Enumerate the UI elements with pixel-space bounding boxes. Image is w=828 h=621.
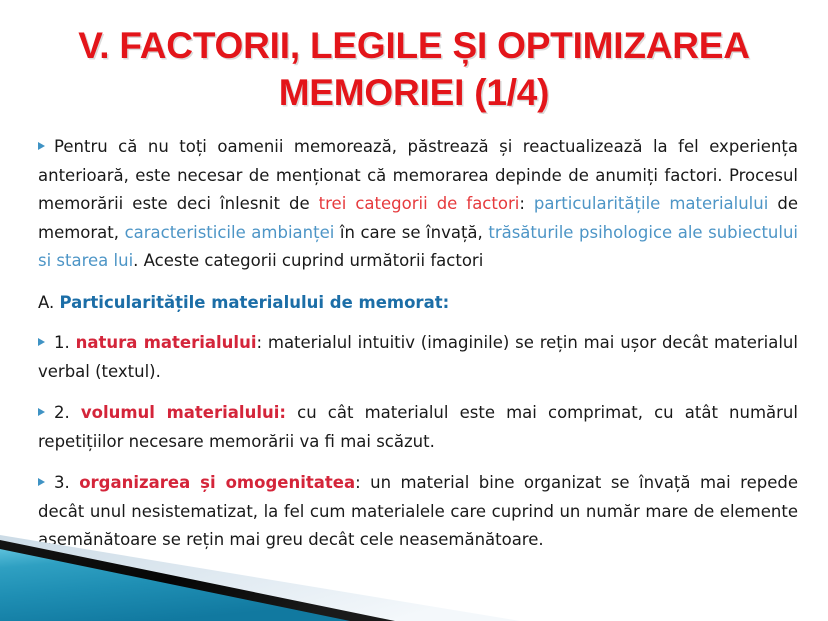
- slide: V. FACTORII, LEGILE ȘI OPTIMIZAREA MEMOR…: [0, 0, 828, 621]
- triangle-bullet-icon: [38, 408, 45, 416]
- page-title-line-2: MEMORIEI (1/4): [30, 69, 798, 116]
- section-a-heading: A. Particularitățile materialului de mem…: [38, 289, 798, 318]
- intro-text-part-5: . Aceste categorii cuprind următorii fac…: [133, 251, 483, 270]
- item-number: 1.: [54, 333, 76, 352]
- section-a-letter: A.: [38, 293, 60, 312]
- item-colon: [286, 403, 297, 422]
- item-label: volumul materialului:: [81, 403, 286, 422]
- content-body: Pentru că nu toți oamenii memorează, păs…: [38, 133, 798, 568]
- triangle-bullet-icon: [38, 338, 45, 346]
- triangle-bullet-icon: [38, 478, 45, 486]
- page-title-line-1: V. FACTORII, LEGILE ȘI OPTIMIZAREA: [30, 22, 798, 69]
- list-item: 1. natura materialului: materialul intui…: [38, 329, 798, 386]
- item-colon: :: [256, 333, 267, 352]
- list-item: 3. organizarea și omogenitatea: un mater…: [38, 469, 798, 555]
- intro-text-part-2: :: [519, 194, 534, 213]
- list-item: 2. volumul materialului: cu cât material…: [38, 399, 798, 456]
- triangle-bullet-icon: [38, 142, 45, 150]
- intro-highlight-particularitatile: particularitățile materialului: [534, 194, 768, 213]
- item-number: 2.: [54, 403, 81, 422]
- page-title: V. FACTORII, LEGILE ȘI OPTIMIZAREA MEMOR…: [30, 22, 798, 116]
- intro-text-part-4: în care se învață,: [334, 223, 488, 242]
- intro-paragraph: Pentru că nu toți oamenii memorează, păs…: [38, 133, 798, 276]
- item-label: natura materialului: [76, 333, 257, 352]
- item-colon: :: [355, 473, 370, 492]
- item-label: organizarea și omogenitatea: [79, 473, 355, 492]
- intro-highlight-caracteristicile: caracteristicile ambianței: [125, 223, 335, 242]
- item-number: 3.: [54, 473, 79, 492]
- intro-highlight-trei-categorii: trei categorii de factori: [319, 194, 520, 213]
- section-a-label: Particularitățile materialului de memora…: [60, 293, 450, 312]
